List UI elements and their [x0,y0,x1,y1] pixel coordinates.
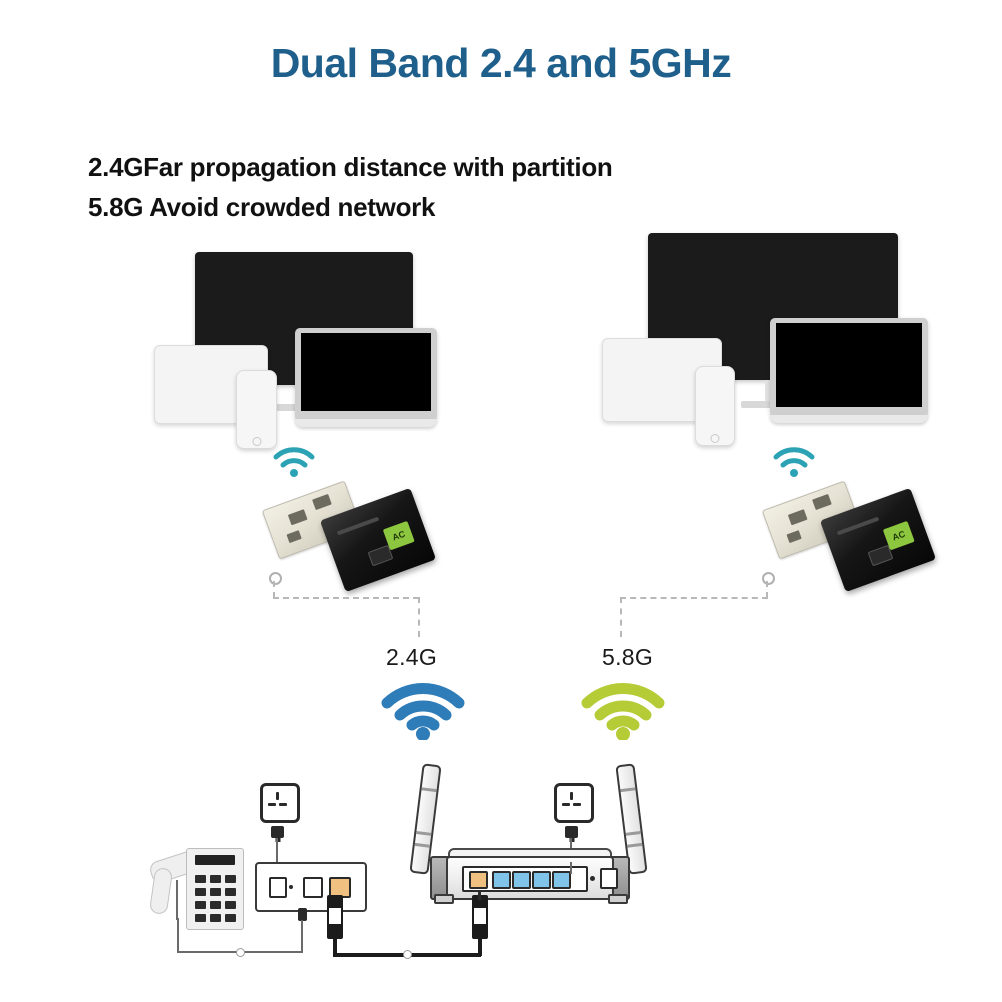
laptop-lid [770,318,928,414]
usb-wifi-adapter: AC [762,472,942,612]
telephone-key [210,914,221,922]
modem-lan-port [303,877,323,898]
usb-contact [288,509,308,525]
leader-endpoint [762,572,775,585]
cable-joint [236,948,245,957]
leader-endpoint [269,572,282,585]
router-lan-port [552,871,571,889]
router-antenna-mount [434,894,454,904]
power-plug [271,826,284,838]
antenna-joint [415,843,430,848]
router-wan-cable [478,890,481,900]
telephone-cable [177,918,179,953]
router-power-cable [570,862,572,874]
router-lan-port [532,871,551,889]
socket-pin [276,792,279,800]
telephone-key [210,901,221,909]
phone-device [695,366,735,446]
band-label-58g: 5.8G [602,644,653,671]
wifi-icon [580,678,666,740]
telephone-key [195,901,206,909]
leader-line [273,597,419,599]
subtitle-line-2: 5.8G Avoid crowded network [88,192,435,223]
phone-home-button [711,434,720,443]
router-lan-port [512,871,531,889]
phone-screen [700,378,730,434]
antenna-joint [421,787,436,792]
router-wan-port [469,871,488,889]
cable-joint [403,950,412,959]
wifi-icon [380,678,466,740]
modem-device [255,862,367,912]
antenna-joint [626,831,641,836]
socket-pin [268,803,276,806]
leader-line [273,581,275,598]
adapter-stripe [337,517,380,536]
laptop-deck [770,414,928,423]
usb-contact [786,530,801,543]
leader-line [620,597,622,637]
telephone-cable [301,920,303,953]
router-antenna-mount [608,894,628,904]
router-reset-button [590,876,595,881]
phone-device [236,370,277,449]
infographic-canvas: Dual Band 2.4 and 5GHz 2.4GFar propagati… [0,0,1002,1002]
antenna-joint [620,787,635,792]
laptop-deck [295,418,437,427]
telephone-key [195,888,206,896]
connector-body [327,908,343,924]
telephone-display [195,855,235,865]
telephone-key [210,875,221,883]
telephone-line [176,880,178,920]
laptop-lid [295,328,437,418]
laptop-device [770,318,928,422]
device-cluster-left [140,232,460,432]
router-power-port [600,868,618,889]
telephone-body [186,848,244,930]
router-device [410,760,660,910]
subtitle-line-1: 2.4GFar propagation distance with partit… [88,152,613,183]
telephone-key [225,888,236,896]
cable-connector [472,895,488,939]
leader-line [418,597,420,637]
laptop-device [295,328,437,426]
usb-contact [286,530,301,543]
leader-line [766,581,768,598]
connector-body [472,908,488,924]
telephone-key [210,888,221,896]
ethernet-cable [478,936,482,956]
phone-home-button [252,437,261,446]
usb-contact [788,509,808,525]
modem-led [289,885,293,889]
socket-pin [279,803,287,806]
antenna-joint [416,831,431,836]
adapter-stripe [837,517,880,536]
usb-contact [312,494,332,510]
telephone-key [225,914,236,922]
router-chassis [446,856,614,900]
cable-connector [327,895,343,939]
telephone-key [195,914,206,922]
laptop-screen [776,323,922,407]
telephone-key [225,875,236,883]
router-lan-port [492,871,511,889]
antenna-joint [627,843,642,848]
page-title: Dual Band 2.4 and 5GHz [0,40,1002,87]
power-wire [276,838,278,864]
band-label-24g: 2.4G [386,644,437,671]
laptop-screen [301,333,431,411]
usb-wifi-adapter: AC [262,472,442,612]
telephone-device [150,840,260,930]
telephone-key [225,901,236,909]
modem-power-port [269,877,287,898]
phone-screen [241,382,272,437]
telephone-key [195,875,206,883]
leader-line [620,597,768,599]
power-socket-icon [260,783,300,823]
usb-contact [812,494,832,510]
device-cluster-right [590,218,940,433]
